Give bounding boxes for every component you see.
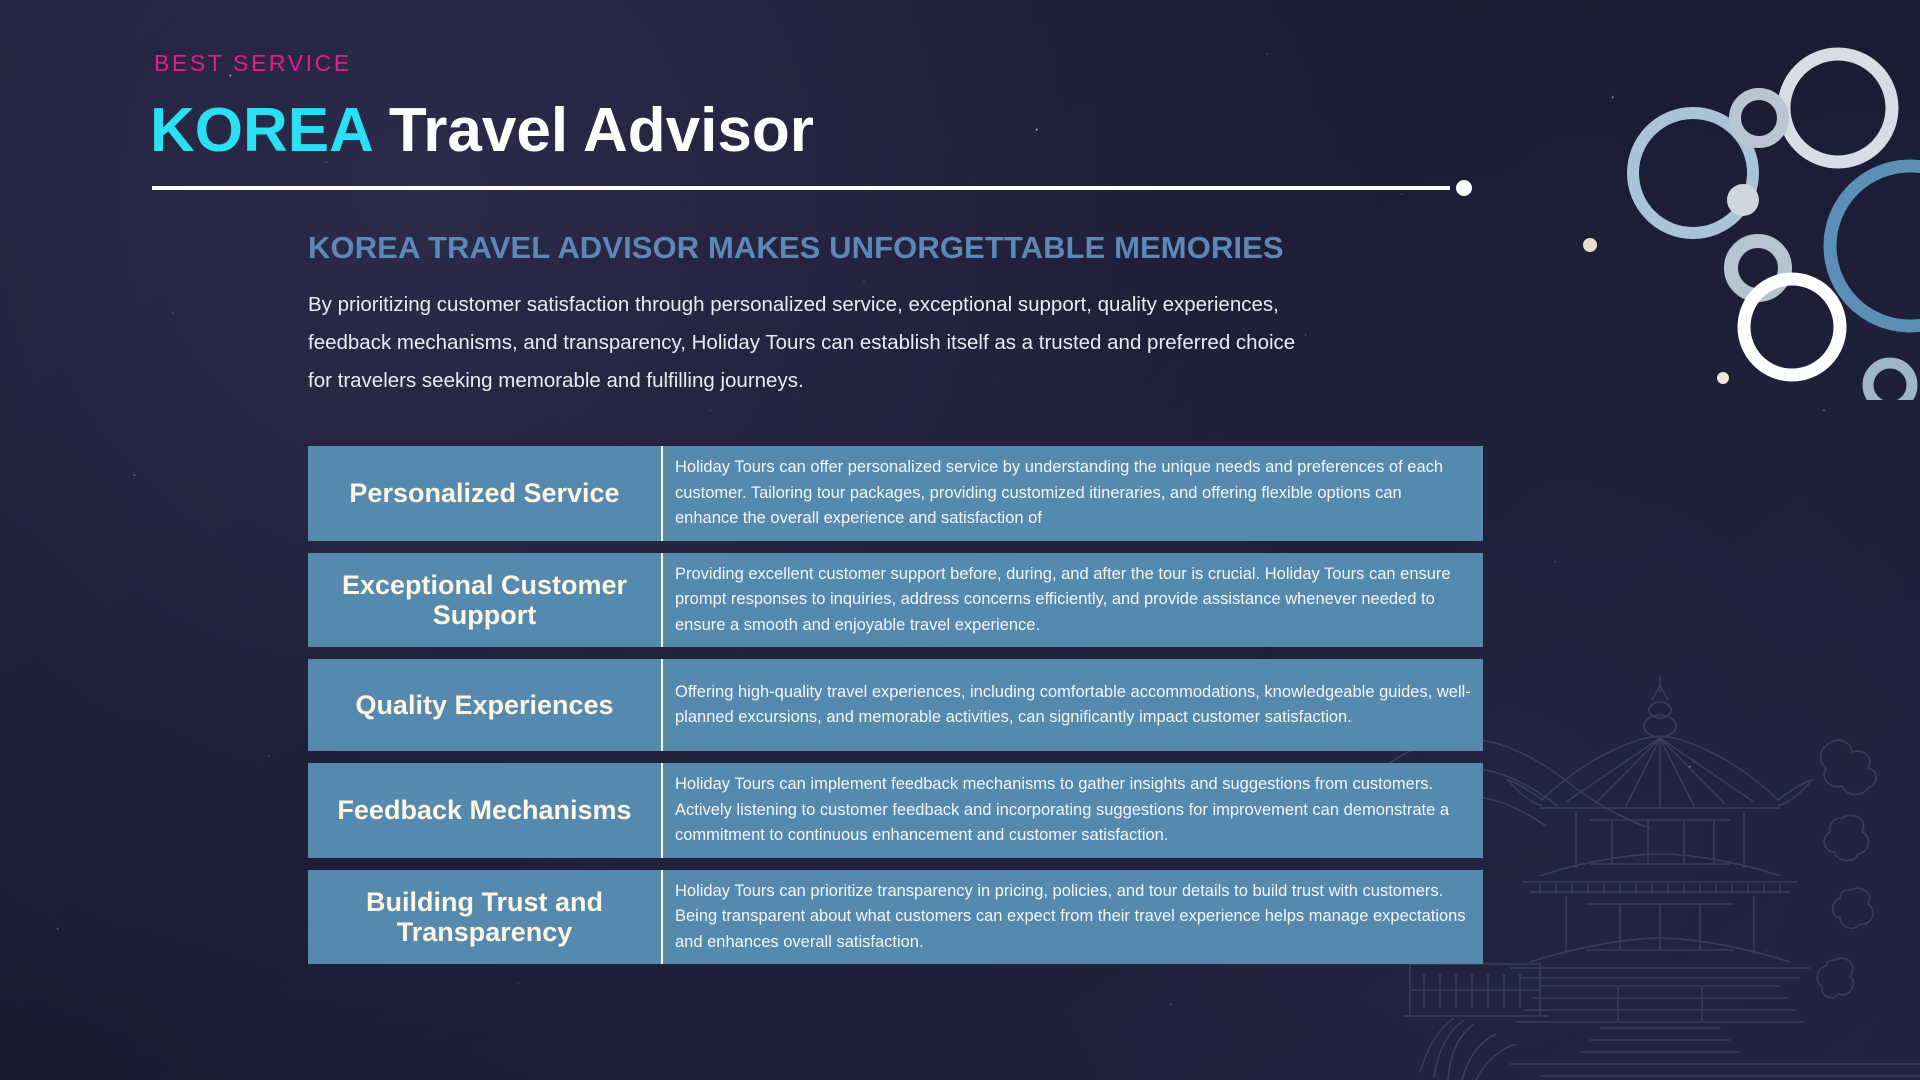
section-subheading: KOREA TRAVEL ADVISOR MAKES UNFORGETTABLE… <box>308 230 1284 266</box>
table-row: Quality Experiences Offering high-qualit… <box>308 659 1483 751</box>
table-row-label: Exceptional Customer Support <box>308 553 663 648</box>
divider-endpoint-dot <box>1456 180 1472 196</box>
table-row-description: Providing excellent customer support bef… <box>663 553 1483 648</box>
table-row: Exceptional Customer Support Providing e… <box>308 553 1483 648</box>
table-row: Feedback Mechanisms Holiday Tours can im… <box>308 763 1483 858</box>
table-row-description: Holiday Tours can implement feedback mec… <box>663 763 1483 858</box>
table-row: Building Trust and Transparency Holiday … <box>308 870 1483 965</box>
bubble-circles-decoration <box>1490 0 1920 400</box>
table-row-label: Building Trust and Transparency <box>308 870 663 965</box>
table-row-description: Holiday Tours can prioritize transparenc… <box>663 870 1483 965</box>
title-divider <box>152 180 1472 196</box>
benefits-table: Personalized Service Holiday Tours can o… <box>308 446 1483 964</box>
divider-line <box>152 186 1450 190</box>
table-row-label: Feedback Mechanisms <box>308 763 663 858</box>
table-row-description: Holiday Tours can offer personalized ser… <box>663 446 1483 541</box>
page-title: KOREA Travel Advisor <box>150 98 814 164</box>
title-highlight: KOREA <box>150 96 372 165</box>
title-rest: Travel Advisor <box>372 96 814 165</box>
table-row: Personalized Service Holiday Tours can o… <box>308 446 1483 541</box>
intro-paragraph: By prioritizing customer satisfaction th… <box>308 286 1318 400</box>
table-row-label: Quality Experiences <box>308 659 663 751</box>
table-row-label: Personalized Service <box>308 446 663 541</box>
slide-canvas: BEST SERVICE KOREA Travel Advisor KOREA … <box>0 0 1920 1080</box>
table-row-description: Offering high-quality travel experiences… <box>663 659 1483 751</box>
eyebrow-label: BEST SERVICE <box>154 50 352 77</box>
